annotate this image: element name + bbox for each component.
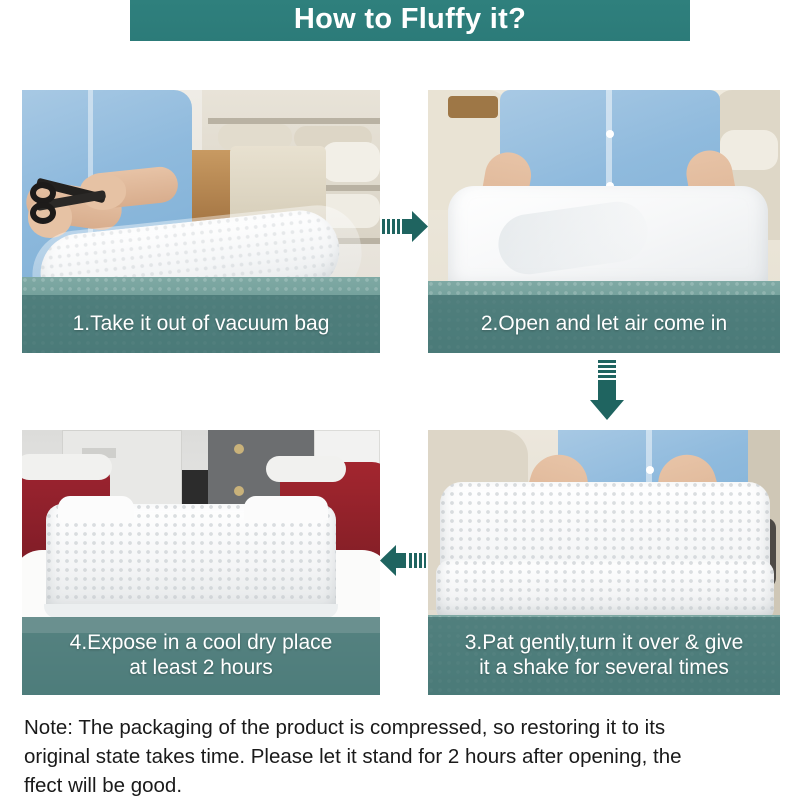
header-banner: How to Fluffy it? bbox=[130, 0, 690, 41]
step-4-caption-text: 4.Expose in a cool dry place at least 2 … bbox=[62, 631, 341, 681]
step-panel-1: 1.Take it out of vacuum bag bbox=[22, 90, 380, 353]
note-line-1: Note: The packaging of the product is co… bbox=[24, 713, 780, 742]
arrow-step3-to-step4 bbox=[378, 540, 426, 580]
step-panel-2: 2.Open and let air come in bbox=[428, 90, 780, 353]
step-4-caption-line-1: 4.Expose in a cool dry place bbox=[70, 631, 333, 654]
step-4-caption: 4.Expose in a cool dry place at least 2 … bbox=[22, 617, 380, 695]
step-panel-4: 4.Expose in a cool dry place at least 2 … bbox=[22, 430, 380, 695]
step-1-caption-text: 1.Take it out of vacuum bag bbox=[65, 312, 338, 337]
note-text: Note: The packaging of the product is co… bbox=[24, 713, 780, 800]
step-3-caption-text: 3.Pat gently,turn it over & give it a sh… bbox=[457, 631, 752, 681]
infographic-page: How to Fluffy it? bbox=[0, 0, 800, 800]
step-3-caption-line-2: it a shake for several times bbox=[479, 656, 729, 679]
step-2-caption: 2.Open and let air come in bbox=[428, 295, 780, 353]
step-4-caption-line-2: at least 2 hours bbox=[129, 656, 273, 679]
step-panel-3: 3.Pat gently,turn it over & give it a sh… bbox=[428, 430, 780, 695]
note-line-2: original state takes time. Please let it… bbox=[24, 742, 780, 771]
step-2-caption-text: 2.Open and let air come in bbox=[473, 312, 735, 337]
page-title: How to Fluffy it? bbox=[294, 5, 526, 34]
arrow-step2-to-step3 bbox=[586, 360, 628, 422]
step-1-caption: 1.Take it out of vacuum bag bbox=[22, 295, 380, 353]
step-3-caption-line-1: 3.Pat gently,turn it over & give bbox=[465, 631, 744, 654]
arrow-step1-to-step2 bbox=[382, 206, 428, 246]
step-3-caption: 3.Pat gently,turn it over & give it a sh… bbox=[428, 617, 780, 695]
note-line-3: ffect will be good. bbox=[24, 771, 780, 800]
